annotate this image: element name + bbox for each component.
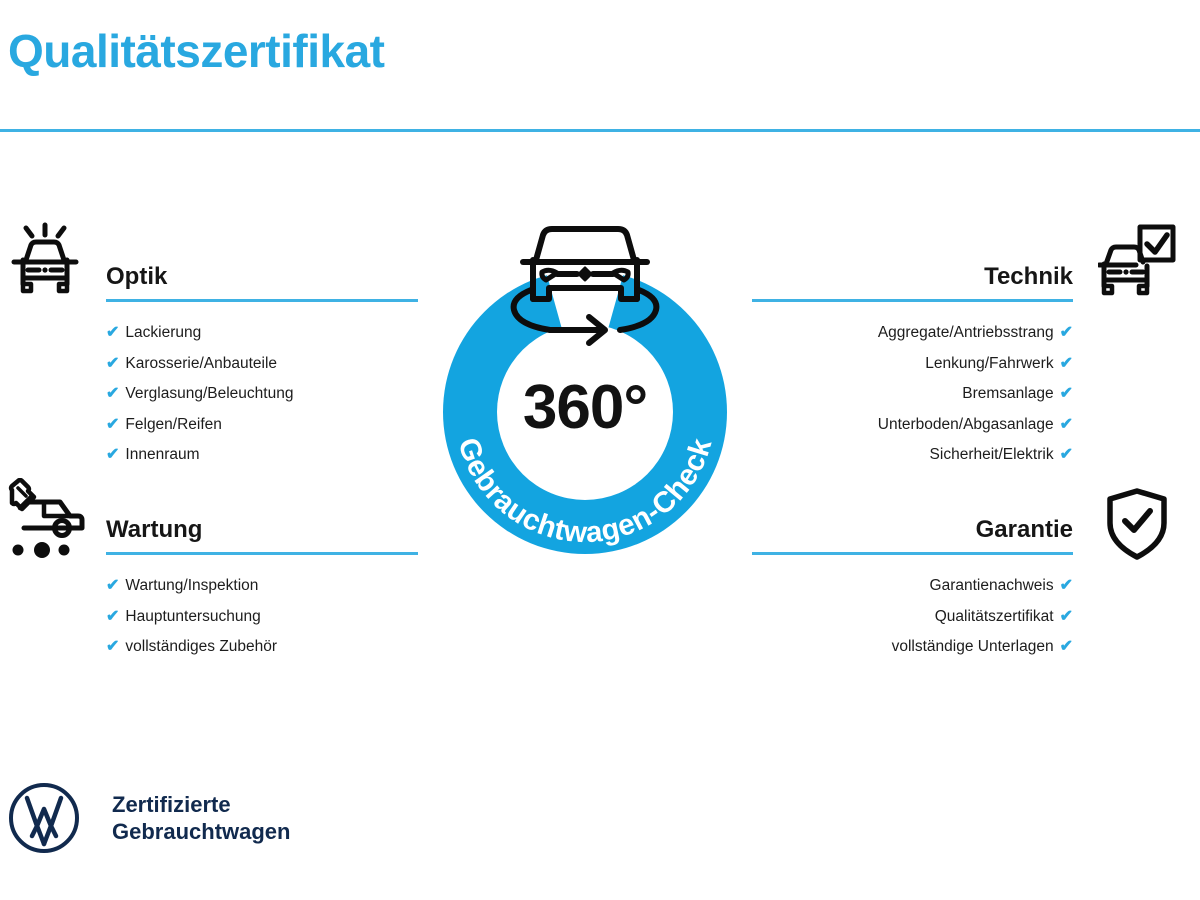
wrench-over-car-icon [4,478,86,562]
list-item: ✔ Lackierung [106,318,418,349]
list-item: ✔ Hauptuntersuchung [106,602,418,633]
check-icon: ✔ [106,318,119,349]
volkswagen-logo [8,782,80,854]
check-icon: ✔ [106,632,119,663]
list-item-label: Wartung/Inspektion [125,571,258,602]
list-item: vollständige Unterlagen ✔ [752,632,1073,663]
list-item: ✔ Wartung/Inspektion [106,571,418,602]
list-item: ✔ Karosserie/Anbauteile [106,349,418,380]
section-underline [752,552,1073,555]
list-item: ✔ vollständiges Zubehör [106,632,418,663]
footer-line-1: Zertifizierte [112,791,290,818]
section-underline [106,299,418,302]
section-wartung: Wartung ✔ Wartung/Inspektion ✔ Hauptunte… [106,517,418,663]
page-title: Qualitätszertifikat [8,24,385,78]
section-heading: Optik [106,264,418,290]
list-item: Lenkung/Fahrwerk ✔ [752,349,1073,380]
list-item-label: Hauptuntersuchung [125,602,260,633]
check-icon: ✔ [106,410,119,441]
list-item-label: vollständiges Zubehör [125,632,277,663]
garantie-item-list: Garantienachweis ✔ Qualitätszertifikat ✔… [752,571,1073,663]
technik-item-list: Aggregate/Antriebsstrang ✔ Lenkung/Fahrw… [752,318,1073,471]
list-item-label: Garantienachweis [930,571,1054,602]
check-icon: ✔ [106,349,119,380]
header-divider [0,129,1200,132]
360-gebrauchtwagen-check-badge: Gebrauchtwagen-Check 360° [415,212,755,584]
footer-line-2: Gebrauchtwagen [112,818,290,845]
list-item: Garantienachweis ✔ [752,571,1073,602]
check-icon: ✔ [1060,571,1073,602]
footer-brand-text: Zertifizierte Gebrauchtwagen [112,791,290,845]
list-item-label: Innenraum [125,440,199,471]
list-item: Aggregate/Antriebsstrang ✔ [752,318,1073,349]
optik-item-list: ✔ Lackierung ✔ Karosserie/Anbauteile ✔ V… [106,318,418,471]
section-underline [752,299,1073,302]
section-optik: Optik ✔ Lackierung ✔ Karosserie/Anbautei… [106,264,418,471]
list-item: ✔ Felgen/Reifen [106,410,418,441]
quality-certificate-page: Qualitätszertifikat Optik [0,0,1200,900]
list-item-label: Felgen/Reifen [125,410,222,441]
car-front-with-light-rays-icon [6,222,84,300]
list-item-label: Bremsanlage [962,379,1053,410]
list-item-label: Lackierung [125,318,201,349]
check-icon: ✔ [1060,632,1073,663]
shield-check-icon [1104,487,1170,561]
section-heading: Technik [752,264,1073,290]
list-item: ✔ Verglasung/Beleuchtung [106,379,418,410]
list-item-label: Sicherheit/Elektrik [930,440,1054,471]
list-item-label: Qualitätszertifikat [935,602,1054,633]
section-heading: Wartung [106,517,418,543]
check-icon: ✔ [106,571,119,602]
check-icon: ✔ [1060,379,1073,410]
list-item-label: vollständige Unterlagen [892,632,1054,663]
wartung-item-list: ✔ Wartung/Inspektion ✔ Hauptuntersuchung… [106,571,418,663]
car-front-with-checkbox-icon [1098,224,1178,302]
list-item: Qualitätszertifikat ✔ [752,602,1073,633]
section-garantie: Garantie Garantienachweis ✔ Qualitätszer… [752,517,1073,663]
check-icon: ✔ [106,602,119,633]
list-item: Bremsanlage ✔ [752,379,1073,410]
check-icon: ✔ [1060,349,1073,380]
check-icon: ✔ [106,440,119,471]
section-heading: Garantie [752,517,1073,543]
list-item: ✔ Innenraum [106,440,418,471]
list-item-label: Aggregate/Antriebsstrang [878,318,1054,349]
list-item: Unterboden/Abgasanlage ✔ [752,410,1073,441]
list-item-label: Karosserie/Anbauteile [125,349,277,380]
check-icon: ✔ [1060,440,1073,471]
check-icon: ✔ [1060,410,1073,441]
section-technik: Technik Aggregate/Antriebsstrang ✔ Lenku… [752,264,1073,471]
section-underline [106,552,418,555]
check-icon: ✔ [1060,318,1073,349]
check-icon: ✔ [1060,602,1073,633]
badge-center-value: 360° [523,373,647,442]
footer-brand: Zertifizierte Gebrauchtwagen [8,782,290,854]
list-item-label: Unterboden/Abgasanlage [878,410,1054,441]
check-icon: ✔ [106,379,119,410]
list-item: Sicherheit/Elektrik ✔ [752,440,1073,471]
list-item-label: Verglasung/Beleuchtung [125,379,293,410]
list-item-label: Lenkung/Fahrwerk [925,349,1053,380]
